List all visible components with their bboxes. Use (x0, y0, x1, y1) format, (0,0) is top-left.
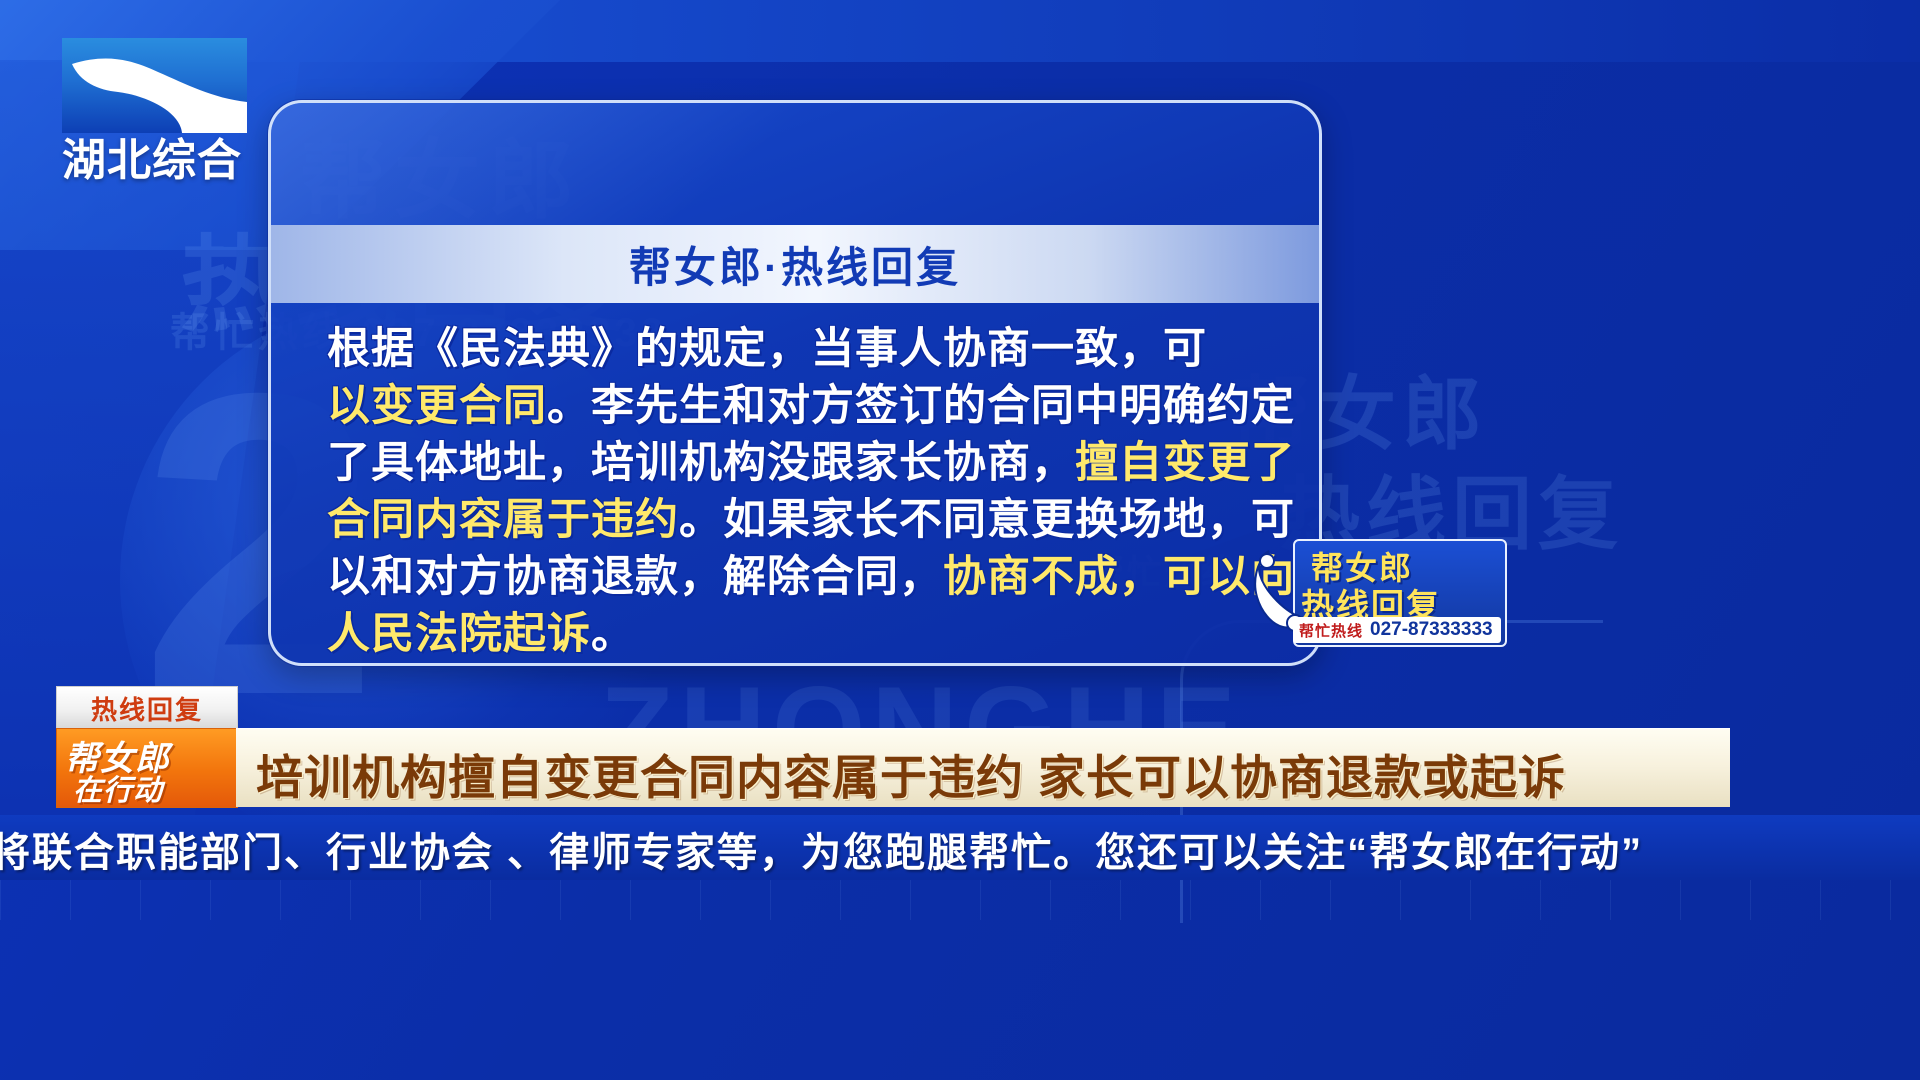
lower-third-headline: 培训机构擅自变更合同内容属于违约 家长可以协商退款或起诉 (256, 739, 1566, 808)
panel-title-bar: 帮女郎·热线回复 (271, 225, 1319, 303)
channel-logo: 湖北综合 (62, 38, 262, 183)
body-text-segment: 协商不成，可以向 (943, 553, 1295, 601)
lower-third-headline-bar: 培训机构擅自变更合同内容属于违约 家长可以协商退款或起诉 (236, 728, 1730, 807)
lower-third-tag-label: 热线回复 (91, 690, 203, 727)
body-line: 根据《民法典》的规定，当事人协商一致，可 (327, 321, 1275, 378)
program-logo-line2: 在行动 (73, 767, 163, 808)
corner-bug-hotline-strip: 帮忙热线 027-87333333 (1293, 617, 1501, 643)
lower-third-tag: 热线回复 (56, 686, 238, 730)
body-line: 合同内容属于违约。如果家长不同意更换场地，可 (327, 492, 1275, 549)
body-line: 以和对方协商退款，解除合同，协商不成，可以向 (327, 549, 1275, 606)
corner-bug-hotline-label: 帮忙热线 (1299, 620, 1363, 641)
body-text-segment: 擅自变更了 (1075, 439, 1295, 487)
body-line: 人民法院起诉。 (327, 606, 1275, 663)
body-text-segment: 人民法院起诉 (327, 610, 591, 658)
panel-title: 帮女郎·热线回复 (629, 234, 961, 295)
panel-body-text: 根据《民法典》的规定，当事人协商一致，可 以变更合同。李先生和对方签订的合同中明… (327, 321, 1275, 663)
body-text-segment: 。李先生和对方签订的合同中明确约定 (547, 382, 1295, 430)
channel-name: 湖北综合 (62, 139, 262, 183)
body-text-segment: 。 (591, 610, 635, 658)
corner-bug-hotline-number: 027-87333333 (1370, 619, 1493, 641)
body-line: 以变更合同。李先生和对方签订的合同中明确约定 (327, 378, 1275, 435)
body-text-segment: 以和对方协商退款，解除合同， (327, 553, 943, 601)
hubei-river-wave-icon (62, 38, 247, 133)
body-text-segment: 以变更合同 (327, 382, 547, 430)
body-text-segment: 合同内容属于违约 (327, 496, 679, 544)
body-text-segment: 。如果家长不同意更换场地，可 (679, 496, 1295, 544)
ticker-text: 将联合职能部门、行业协会 、律师专家等，为您跑腿帮忙。您还可以关注“帮女郎在行动… (0, 820, 1643, 878)
hotline-reply-panel: 帮女郎·热线回复 根据《民法典》的规定，当事人协商一致，可 以变更合同。李先生和… (268, 100, 1322, 666)
body-text-segment: 根据《民法典》的规定，当事人协商一致，可 (327, 325, 1207, 373)
ticker-content: 将联合职能部门、行业协会 、律师专家等，为您跑腿帮忙。您还可以关注“帮女郎在行动… (0, 820, 1920, 878)
river-wave-shape (62, 38, 247, 133)
hotline-corner-bug: 帮女郎 热线回复 帮忙热线 027-87333333 (1253, 533, 1503, 653)
body-line: 了具体地址，培训机构没跟家长协商，擅自变更了 (327, 435, 1275, 492)
body-text-segment: 了具体地址，培训机构没跟家长协商， (327, 439, 1075, 487)
program-logo: 帮女郎 在行动 (56, 728, 238, 808)
